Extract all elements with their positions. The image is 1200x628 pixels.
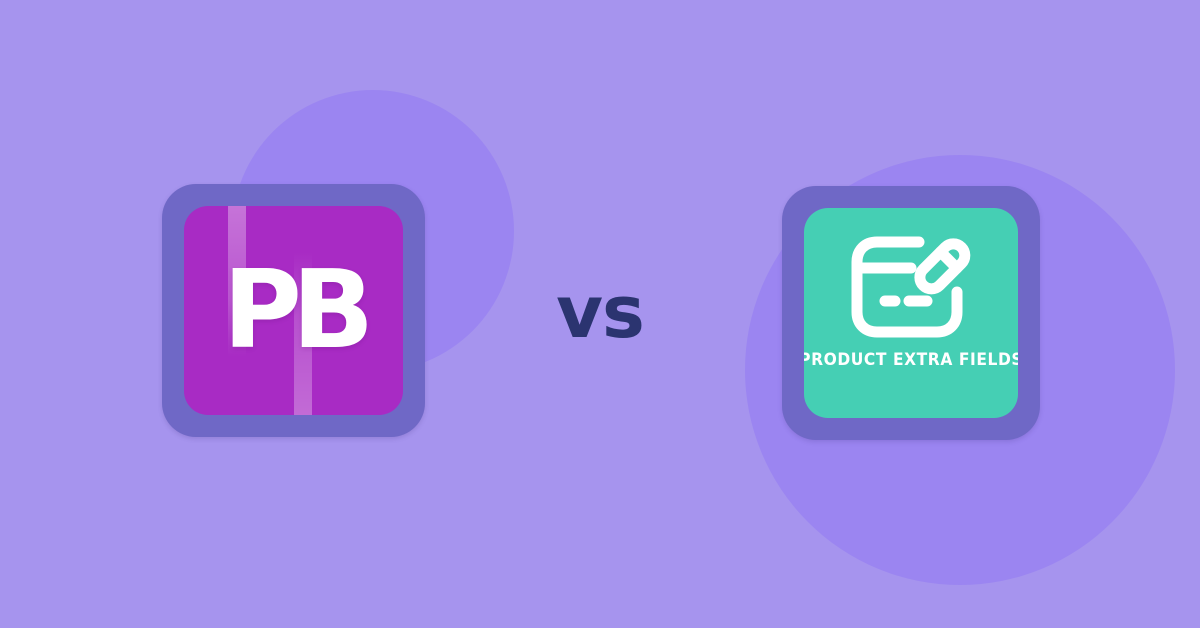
right-app-logo: PRODUCT EXTRA FIELDS xyxy=(804,208,1018,418)
right-app-tile[interactable]: PRODUCT EXTRA FIELDS xyxy=(782,186,1040,440)
right-app-caption: PRODUCT EXTRA FIELDS xyxy=(804,350,1018,369)
card-with-pencil-icon xyxy=(841,228,981,346)
comparison-banner: PB vs PRODUCT EXTRA FIELDS xyxy=(0,0,1200,628)
